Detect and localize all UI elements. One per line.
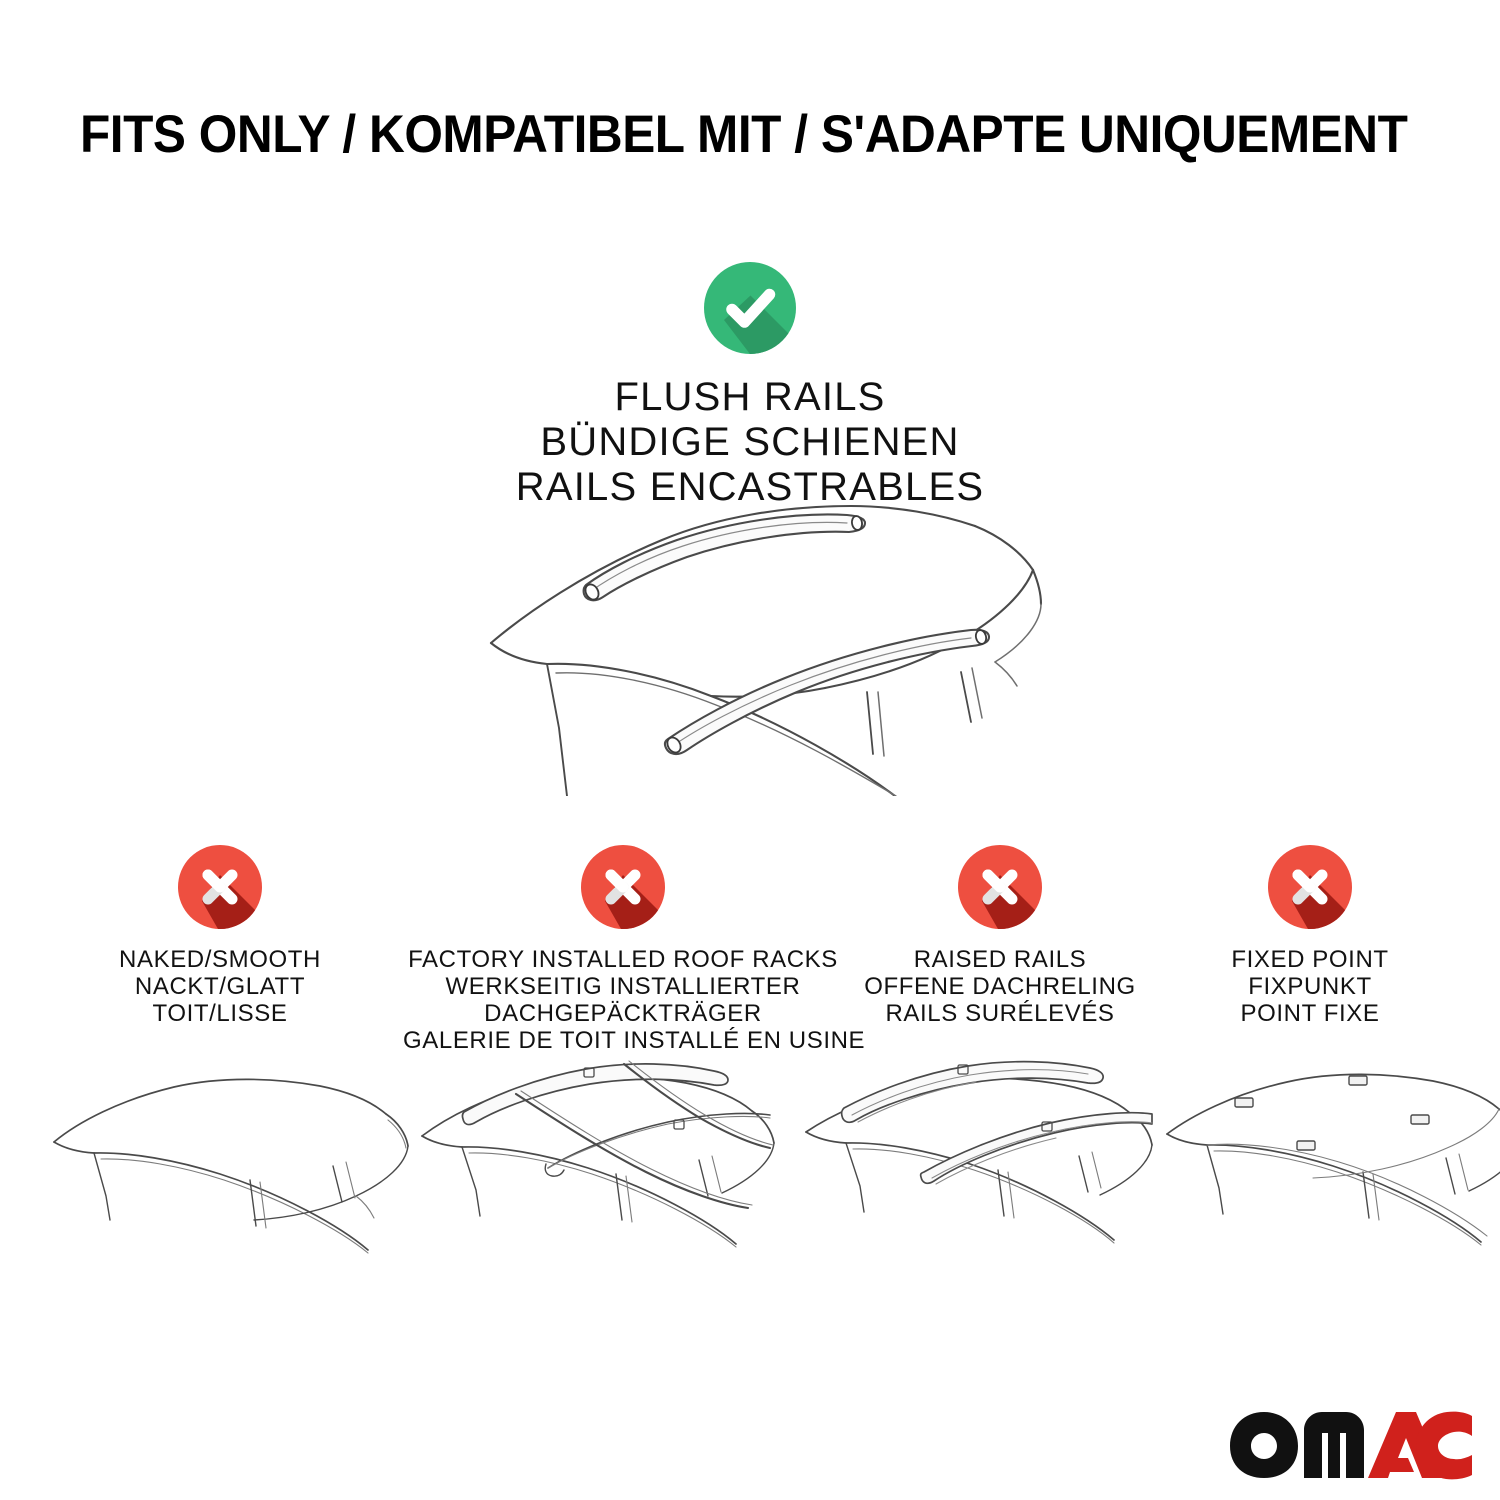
option-label-line: POINT FIXE (1150, 1000, 1470, 1027)
car-roof-factory-racks-diagram (418, 1060, 778, 1290)
omac-logo (1228, 1410, 1474, 1480)
page-title-bar: FITS ONLY / KOMPATIBEL MIT / S'ADAPTE UN… (80, 104, 1420, 166)
option-label-line: FIXPUNKT (1150, 973, 1470, 1000)
x-circle-icon (581, 845, 665, 929)
option-naked-smooth-label: NAKED/SMOOTH NACKT/GLATT TOIT/LISSE (20, 946, 420, 1027)
check-circle-icon (704, 262, 796, 354)
car-roof-raised-rails-diagram (798, 1060, 1158, 1290)
option-raised-rails-label: RAISED RAILS OFFENE DACHRELING RAILS SUR… (820, 946, 1180, 1027)
option-label-line: NACKT/GLATT (20, 973, 420, 1000)
option-label-line: OFFENE DACHRELING (820, 973, 1180, 1000)
option-label-line: TOIT/LISSE (20, 1000, 420, 1027)
option-label-line: RAISED RAILS (820, 946, 1180, 973)
option-label-line: FACTORY INSTALLED ROOF RACKS (403, 946, 843, 973)
omac-logo-letter-m (1304, 1412, 1364, 1478)
compatible-heading-line-1: FLUSH RAILS (0, 375, 1500, 420)
option-fixed-point: FIXED POINT FIXPUNKT POINT FIXE (1150, 845, 1470, 1027)
option-label-line: WERKSEITIG INSTALLIERTER (403, 973, 843, 1000)
option-factory-installed-roof-racks: FACTORY INSTALLED ROOF RACKS WERKSEITIG … (403, 845, 843, 1054)
page-title: FITS ONLY / KOMPATIBEL MIT / S'ADAPTE UN… (80, 104, 1333, 166)
x-circle-icon (958, 845, 1042, 929)
omac-logo-letter-o (1230, 1412, 1298, 1478)
option-label-line: NAKED/SMOOTH (20, 946, 420, 973)
option-factory-installed-roof-racks-label: FACTORY INSTALLED ROOF RACKS WERKSEITIG … (403, 946, 843, 1054)
x-circle-icon (178, 845, 262, 929)
compatible-heading-line-2: BÜNDIGE SCHIENEN (0, 420, 1500, 465)
option-label-line: DACHGEPÄCKTRÄGER (403, 1000, 843, 1027)
car-roof-flush-rails-diagram (455, 496, 1045, 796)
car-roof-fixed-point-diagram (1163, 1060, 1500, 1290)
compatible-heading: FLUSH RAILS BÜNDIGE SCHIENEN RAILS ENCAS… (0, 375, 1500, 510)
option-label-line: RAILS SURÉLEVÉS (820, 1000, 1180, 1027)
option-label-line: GALERIE DE TOIT INSTALLÉ EN USINE (403, 1027, 843, 1054)
x-circle-icon (1268, 845, 1352, 929)
incompatible-options-row: NAKED/SMOOTH NACKT/GLATT TOIT/LISSE FACT… (0, 845, 1500, 1095)
option-fixed-point-label: FIXED POINT FIXPUNKT POINT FIXE (1150, 946, 1470, 1027)
option-raised-rails: RAISED RAILS OFFENE DACHRELING RAILS SUR… (820, 845, 1180, 1027)
compatible-section: FLUSH RAILS BÜNDIGE SCHIENEN RAILS ENCAS… (0, 262, 1500, 510)
option-naked-smooth: NAKED/SMOOTH NACKT/GLATT TOIT/LISSE (20, 845, 420, 1027)
option-label-line: FIXED POINT (1150, 946, 1470, 973)
car-roof-naked-smooth-diagram (50, 1060, 410, 1290)
